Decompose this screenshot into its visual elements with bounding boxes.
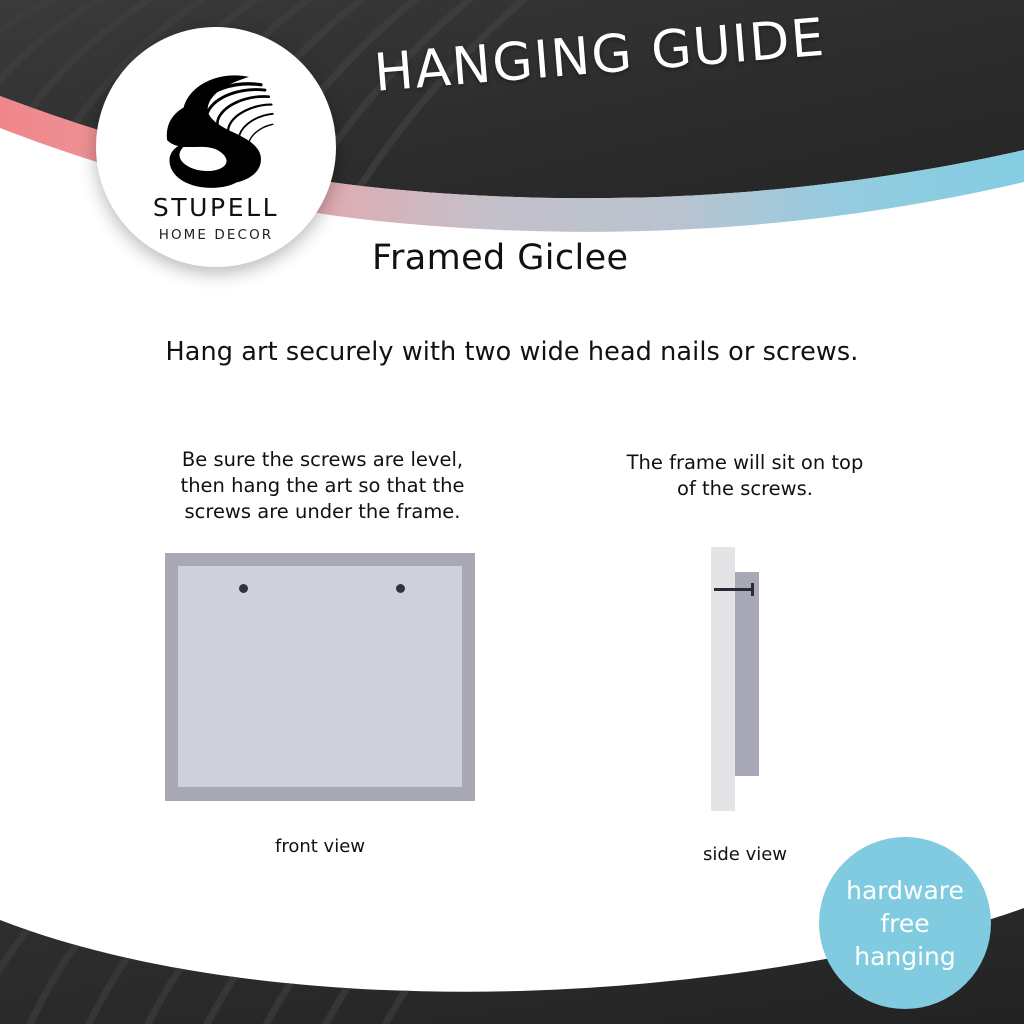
screw-dot-right xyxy=(396,584,405,593)
front-view-label: front view xyxy=(165,836,475,857)
side-view-wall xyxy=(711,547,735,811)
front-caption-line-1: Be sure the screws are level, xyxy=(150,447,495,473)
stupell-swoosh-icon xyxy=(150,61,282,193)
badge-line-2: free xyxy=(880,907,929,940)
badge-line-1: hardware xyxy=(846,874,964,907)
page-title: HANGING GUIDE xyxy=(372,2,895,104)
side-view-caption: The frame will sit on top of the screws. xyxy=(600,450,890,502)
product-type-subtitle: Framed Giclee xyxy=(372,238,628,278)
hanging-guide-page: HANGING GUIDE STUPELL HOME DECOR Framed … xyxy=(0,0,1024,1024)
logo-tagline: HOME DECOR xyxy=(159,229,274,243)
front-view-caption: Be sure the screws are level, then hang … xyxy=(150,447,495,525)
nail-head-icon xyxy=(751,583,754,596)
side-view-frame xyxy=(735,572,759,776)
side-caption-line-1: The frame will sit on top xyxy=(600,450,890,476)
front-caption-line-2: then hang the art so that the xyxy=(150,473,495,499)
side-caption-line-2: of the screws. xyxy=(600,476,890,502)
intro-instruction: Hang art securely with two wide head nai… xyxy=(0,337,1024,367)
logo-wordmark: STUPELL xyxy=(153,195,279,220)
screw-dot-left xyxy=(239,584,248,593)
front-view-frame xyxy=(165,553,475,801)
side-view-label: side view xyxy=(660,844,830,865)
front-caption-line-3: screws are under the frame. xyxy=(150,499,495,525)
hardware-free-hanging-badge: hardware free hanging xyxy=(819,837,991,1009)
badge-line-3: hanging xyxy=(854,940,956,973)
front-view-mat xyxy=(178,566,462,787)
brand-logo-badge: STUPELL HOME DECOR xyxy=(96,27,336,267)
nail-shaft-icon xyxy=(714,588,754,591)
